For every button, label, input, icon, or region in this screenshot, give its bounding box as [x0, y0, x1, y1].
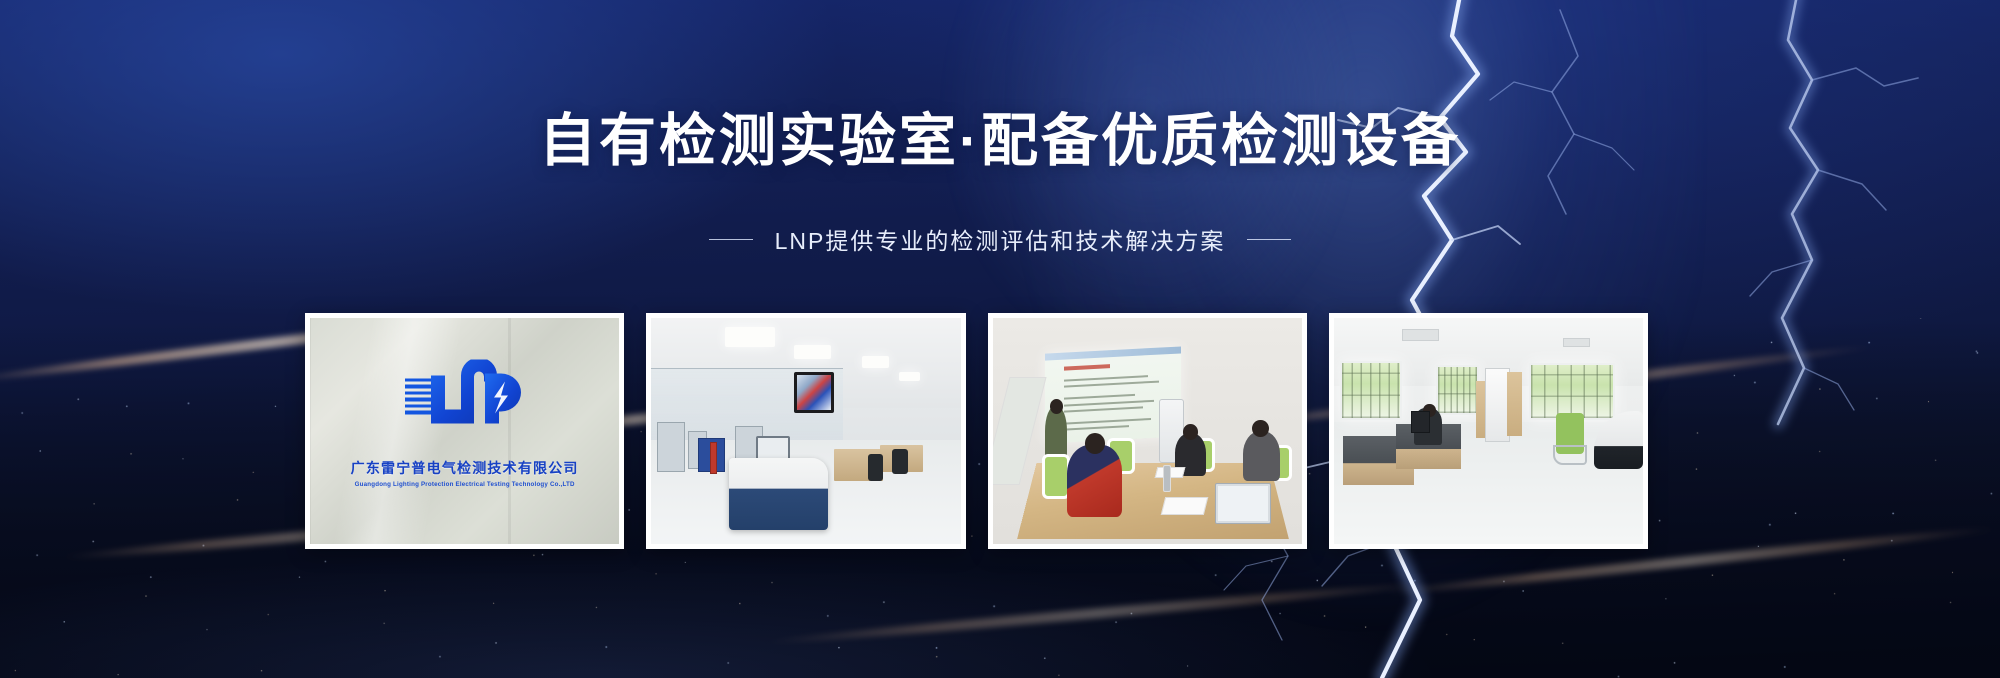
slide-titlebar: [1045, 346, 1181, 360]
slide-line: [1064, 394, 1135, 400]
attendee-head: [1085, 433, 1105, 453]
wall-display-screen: [794, 372, 834, 413]
dash-left-icon: [709, 239, 753, 240]
page-subtitle: LNP提供专业的检测评估和技术解决方案: [0, 222, 2000, 256]
control-console: [729, 458, 828, 530]
slide-line: [1064, 399, 1154, 406]
paper-document: [1160, 497, 1208, 515]
slide-line: [1064, 425, 1129, 430]
gallery-item-high-voltage-lab[interactable]: [646, 313, 965, 549]
dash-right-icon: [1247, 239, 1291, 240]
ceiling-vent: [1402, 329, 1439, 340]
insulator-column: [710, 442, 717, 474]
chair-frame: [1553, 445, 1587, 465]
lnp-logo-mark-icon: [405, 359, 525, 430]
attendee-right: [1243, 431, 1280, 481]
gallery-item-company-signage[interactable]: 广东雷宁普电气检测技术有限公司 Guangdong Lighting Prote…: [305, 313, 624, 549]
presenter-head: [1050, 399, 1063, 414]
wood-partition: [1476, 381, 1485, 438]
desktop-monitor: [1411, 411, 1430, 434]
company-name-cn: 广东雷宁普电气检测技术有限公司: [351, 458, 579, 478]
subtitle-text: LNP提供专业的检测评估和技术解决方案: [775, 222, 1226, 256]
office-chair: [892, 449, 907, 474]
slide-line: [1064, 381, 1159, 388]
slide-line: [1064, 417, 1151, 424]
logo-bars-icon: [405, 378, 431, 414]
company-name-en: Guangdong Lighting Protection Electrical…: [351, 481, 579, 488]
ceiling-vent: [1563, 338, 1591, 347]
ceiling-light: [725, 327, 774, 347]
signage-text: 广东雷宁普电气检测技术有限公司 Guangdong Lighting Prote…: [351, 458, 579, 488]
gallery-item-office-area[interactable]: [1329, 313, 1648, 549]
slide-line: [1064, 406, 1143, 412]
photo-company-signage: 广东雷宁普电气检测技术有限公司 Guangdong Lighting Prote…: [310, 318, 619, 544]
test-equipment: [657, 422, 685, 472]
lnp-letters-icon: [429, 359, 525, 425]
meeting-chair: [1042, 454, 1070, 499]
slide-heading: [1064, 364, 1110, 370]
office-window-left: [1340, 361, 1402, 420]
office-window-right: [1529, 363, 1616, 420]
photo-office-area: [1334, 318, 1643, 544]
slide-line: [1064, 375, 1148, 381]
gallery-strip: 广东雷宁普电气检测技术有限公司 Guangdong Lighting Prote…: [305, 313, 1648, 549]
hero-banner: 自有检测实验室·配备优质检测设备 LNP提供专业的检测评估和技术解决方案: [0, 0, 2000, 678]
wood-shelf: [1507, 372, 1522, 435]
laptop: [1215, 483, 1271, 524]
office-window-mid: [1436, 365, 1479, 415]
attendee-head: [1183, 424, 1198, 440]
ceiling-light: [794, 345, 831, 359]
logo-glyph-icon: [429, 359, 525, 430]
page-title: 自有检测实验室·配备优质检测设备: [0, 108, 2000, 175]
ceiling-light: [862, 356, 890, 367]
gallery-item-meeting-room[interactable]: [988, 313, 1307, 549]
attendee-head: [1252, 420, 1269, 437]
presenter: [1045, 406, 1067, 460]
attendee-foreground: [1067, 445, 1123, 517]
office-chair: [868, 454, 883, 481]
photo-high-voltage-lab: [651, 318, 960, 544]
wall-sheen: [310, 318, 619, 544]
ceiling-light: [899, 372, 921, 381]
photo-meeting-room: [993, 318, 1302, 544]
water-bottle: [1163, 465, 1171, 492]
